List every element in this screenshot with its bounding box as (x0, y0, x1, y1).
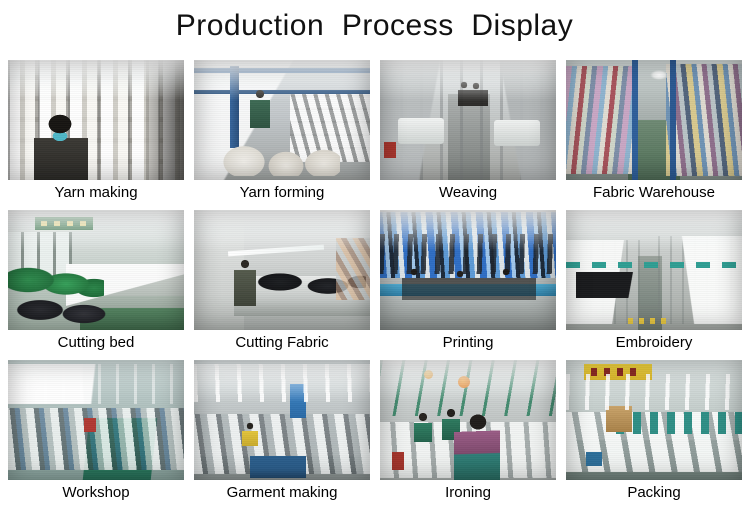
caption-embroidery: Embroidery (566, 330, 742, 354)
caption-workshop: Workshop (8, 480, 184, 504)
caption-packing: Packing (566, 480, 742, 504)
gallery-item-weaving[interactable]: Weaving (380, 60, 556, 204)
photo-cutting-fabric[interactable] (194, 210, 370, 330)
gallery-item-cutting-bed[interactable]: Cutting bed (8, 210, 184, 354)
caption-cutting-fabric: Cutting Fabric (194, 330, 370, 354)
process-gallery-grid: Yarn making Yarn forming (8, 60, 742, 510)
production-process-display-page: Production Process Display Yarn making (0, 0, 749, 530)
photo-vignette (8, 210, 184, 330)
photo-vignette (380, 360, 556, 480)
photo-yarn-forming[interactable] (194, 60, 370, 180)
gallery-item-embroidery[interactable]: Embroidery (566, 210, 742, 354)
photo-vignette (566, 60, 742, 180)
gallery-item-ironing[interactable]: Ironing (380, 360, 556, 504)
photo-cutting-bed[interactable] (8, 210, 184, 330)
caption-printing: Printing (380, 330, 556, 354)
photo-vignette (566, 210, 742, 330)
photo-vignette (380, 60, 556, 180)
photo-yarn-making[interactable] (8, 60, 184, 180)
photo-vignette (566, 360, 742, 480)
photo-vignette (8, 60, 184, 180)
gallery-item-printing[interactable]: Printing (380, 210, 556, 354)
photo-garment-making[interactable] (194, 360, 370, 480)
photo-vignette (194, 210, 370, 330)
caption-weaving: Weaving (380, 180, 556, 204)
photo-fabric-warehouse[interactable] (566, 60, 742, 180)
photo-embroidery[interactable] (566, 210, 742, 330)
caption-fabric-warehouse: Fabric Warehouse (566, 180, 742, 204)
gallery-item-fabric-warehouse[interactable]: Fabric Warehouse (566, 60, 742, 204)
photo-packing[interactable] (566, 360, 742, 480)
photo-ironing[interactable] (380, 360, 556, 480)
gallery-item-garment-making[interactable]: Garment making (194, 360, 370, 504)
caption-cutting-bed: Cutting bed (8, 330, 184, 354)
gallery-item-cutting-fabric[interactable]: Cutting Fabric (194, 210, 370, 354)
photo-workshop[interactable] (8, 360, 184, 480)
gallery-item-workshop[interactable]: Workshop (8, 360, 184, 504)
photo-weaving[interactable] (380, 60, 556, 180)
caption-yarn-forming: Yarn forming (194, 180, 370, 204)
caption-garment-making: Garment making (194, 480, 370, 504)
photo-vignette (380, 210, 556, 330)
caption-yarn-making: Yarn making (8, 180, 184, 204)
photo-vignette (194, 360, 370, 480)
gallery-item-yarn-forming[interactable]: Yarn forming (194, 60, 370, 204)
gallery-item-yarn-making[interactable]: Yarn making (8, 60, 184, 204)
page-title: Production Process Display (0, 8, 749, 44)
caption-ironing: Ironing (380, 480, 556, 504)
gallery-item-packing[interactable]: Packing (566, 360, 742, 504)
photo-vignette (194, 60, 370, 180)
photo-printing[interactable] (380, 210, 556, 330)
photo-vignette (8, 360, 184, 480)
